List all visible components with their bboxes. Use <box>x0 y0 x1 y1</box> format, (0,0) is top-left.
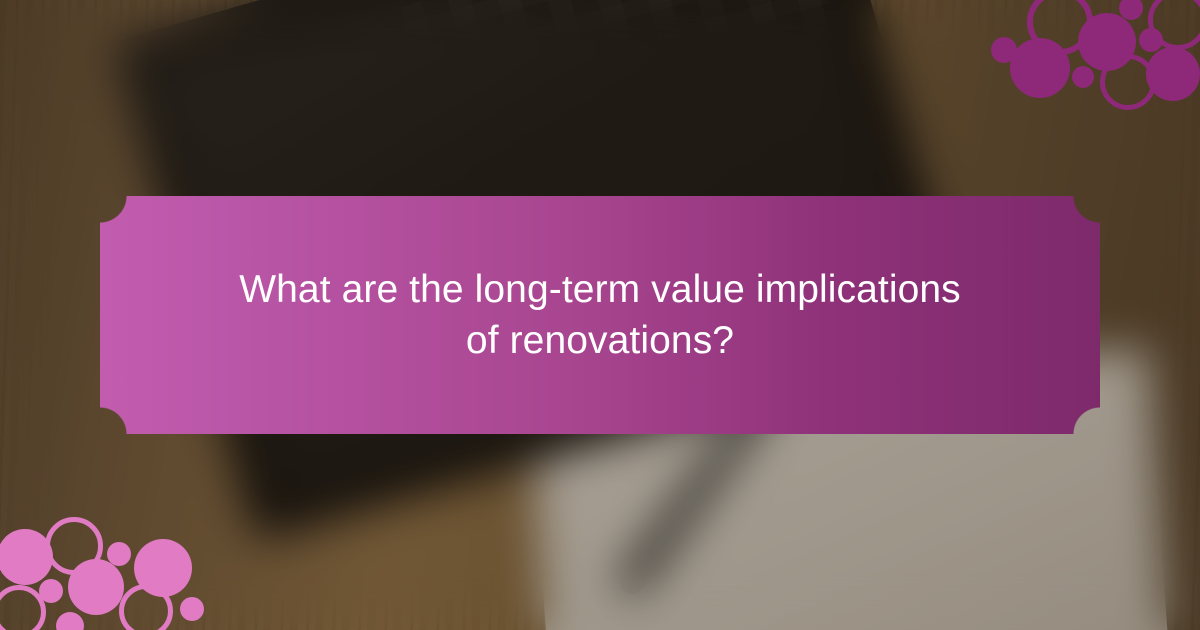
banner-title-text: What are the long-term value implication… <box>100 196 1100 434</box>
title-banner: What are the long-term value implication… <box>100 196 1100 434</box>
screenshot-canvas: What are the long-term value implication… <box>0 0 1200 630</box>
